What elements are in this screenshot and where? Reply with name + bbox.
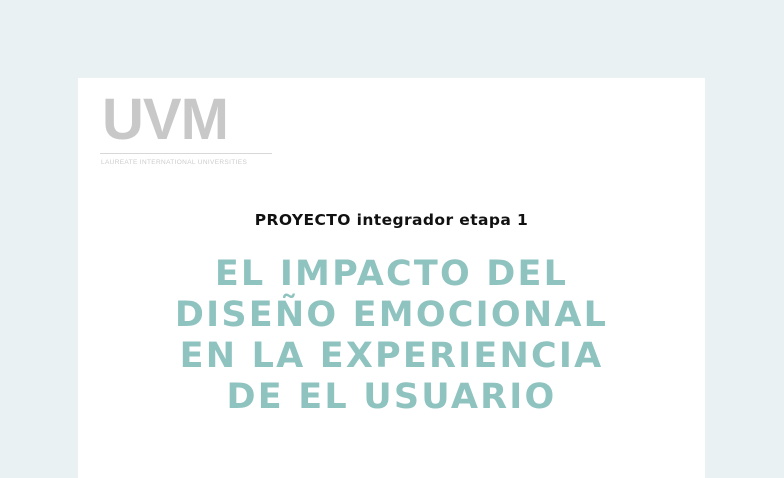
document-page: UVM LAUREATE INTERNATIONAL UNIVERSITIES … bbox=[78, 78, 705, 478]
title-line-4: DE EL USUARIO bbox=[78, 377, 705, 418]
uvm-logo: UVM LAUREATE INTERNATIONAL UNIVERSITIES bbox=[100, 91, 275, 167]
page-title: EL IMPACTO DEL DISEÑO EMOCIONAL EN LA EX… bbox=[78, 254, 705, 418]
title-line-1: EL IMPACTO DEL bbox=[78, 254, 705, 295]
project-subtitle: PROYECTO integrador etapa 1 bbox=[78, 211, 705, 229]
screenshot-viewport: UVM LAUREATE INTERNATIONAL UNIVERSITIES … bbox=[0, 0, 784, 441]
logo-tagline: LAUREATE INTERNATIONAL UNIVERSITIES bbox=[101, 158, 275, 167]
title-line-2: DISEÑO EMOCIONAL bbox=[78, 295, 705, 336]
uvm-wordmark: UVM bbox=[100, 91, 275, 149]
title-line-3: EN LA EXPERIENCIA bbox=[78, 336, 705, 377]
logo-divider-rule bbox=[100, 153, 272, 154]
